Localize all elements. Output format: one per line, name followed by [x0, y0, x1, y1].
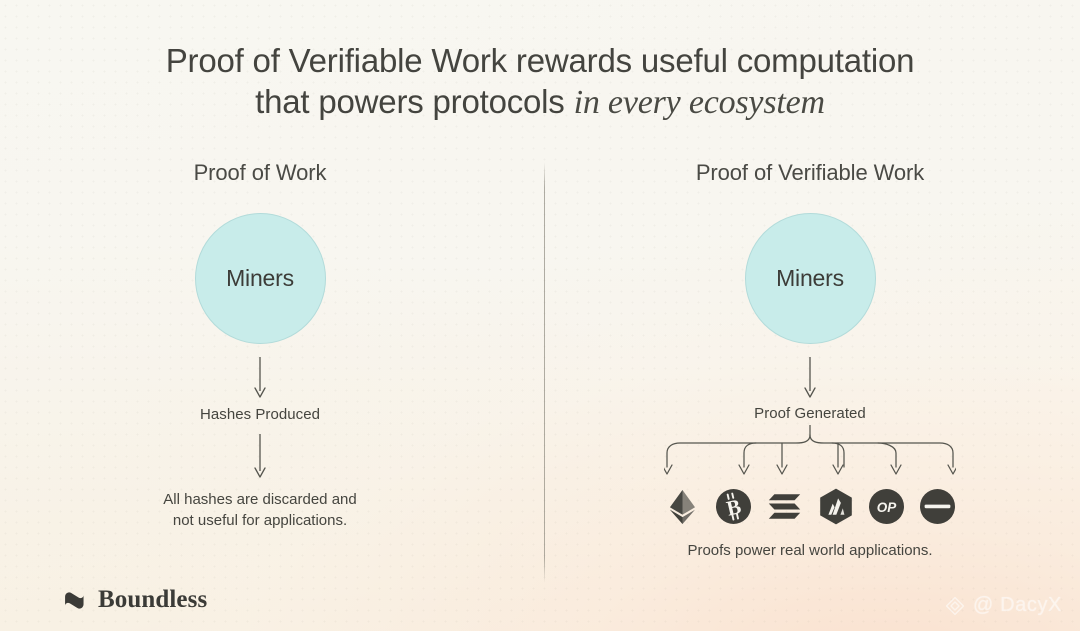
proof-of-work-heading: Proof of Work: [40, 160, 480, 186]
watermark-text: @ DacyX: [973, 594, 1062, 617]
proof-of-work-caption-line-2: not useful for applications.: [173, 512, 347, 529]
miners-node-left: Miners: [195, 213, 326, 344]
slide-canvas: Proof of Verifiable Work rewards useful …: [0, 0, 1080, 631]
proof-of-work-caption-line-1: All hashes are discarded and: [163, 491, 356, 508]
proof-generated-label: Proof Generated: [600, 405, 1020, 422]
dacyx-diamond-icon: [944, 595, 966, 617]
protocol-icon-row: B: [600, 489, 1020, 524]
proof-of-work-column: Proof of Work Miners Hashes Produced All…: [40, 160, 480, 531]
headline-line-2-plain: that powers protocols: [255, 83, 573, 120]
arrow-miners-to-hashes: [40, 357, 480, 400]
headline-line-1: Proof of Verifiable Work rewards useful …: [166, 42, 915, 79]
arbitrum-icon[interactable]: [818, 489, 853, 524]
brand-name: Boundless: [98, 586, 207, 614]
svg-text:OP: OP: [877, 500, 898, 515]
proof-of-verifiable-work-column: Proof of Verifiable Work Miners Proof Ge…: [600, 160, 1020, 561]
base-icon[interactable]: [920, 489, 955, 524]
verifiable-work-node-wrap: Miners: [600, 213, 1020, 344]
hashes-produced-label: Hashes Produced: [40, 406, 480, 423]
solana-icon[interactable]: [767, 489, 802, 524]
watermark: @ DacyX: [944, 594, 1062, 617]
proof-fanout-connector: [600, 425, 1020, 487]
proof-of-work-caption: All hashes are discarded and not useful …: [40, 489, 480, 531]
verifiable-work-caption: Proofs power real world applications.: [600, 540, 1020, 561]
proof-of-work-node-wrap: Miners: [40, 213, 480, 344]
brand-logo: Boundless: [62, 586, 207, 614]
boundless-logo-icon: [62, 588, 87, 613]
ethereum-icon[interactable]: [665, 489, 700, 524]
arrow-hashes-to-discarded: [40, 434, 480, 480]
arrow-miners-to-proof: [600, 357, 1020, 400]
column-divider: [544, 162, 545, 583]
optimism-icon[interactable]: OP: [869, 489, 904, 524]
page-title: Proof of Verifiable Work rewards useful …: [0, 40, 1080, 123]
proof-of-verifiable-work-heading: Proof of Verifiable Work: [600, 160, 1020, 186]
bitcoin-icon[interactable]: B: [716, 489, 751, 524]
miners-node-right: Miners: [745, 213, 876, 344]
headline-line-2-emphasis: in every ecosystem: [574, 84, 825, 121]
